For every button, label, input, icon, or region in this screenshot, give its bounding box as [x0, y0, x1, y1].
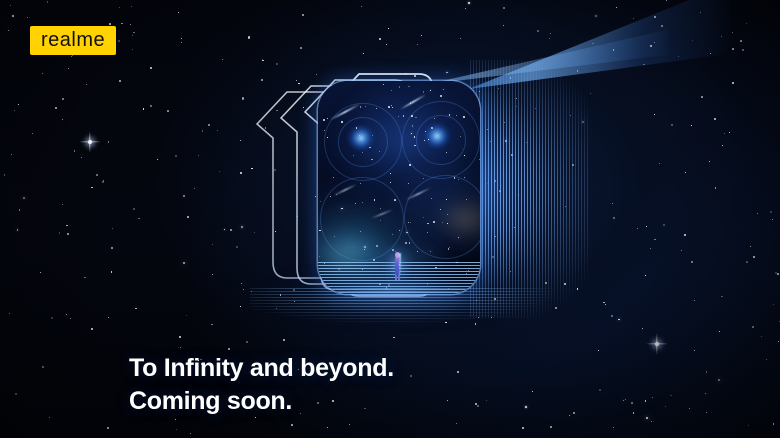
lens-ring-lower-right — [404, 175, 480, 259]
device-screen-inner — [318, 81, 480, 294]
lens-ring-lower-left — [320, 177, 404, 261]
ground-line-plane — [318, 262, 480, 294]
device-screen — [318, 81, 480, 294]
lens-flare-right — [422, 123, 452, 149]
realme-logo[interactable]: realme — [30, 26, 116, 55]
headline-block: To Infinity and beyond. Coming soon. — [129, 352, 394, 418]
lens-flare-left — [346, 125, 376, 151]
headline-line-1: To Infinity and beyond. — [129, 352, 394, 385]
headline-line-2: Coming soon. — [129, 385, 394, 418]
realme-logo-text: realme — [41, 30, 105, 50]
teaser-poster: realme To Infinity and beyond. Coming so… — [0, 0, 780, 438]
